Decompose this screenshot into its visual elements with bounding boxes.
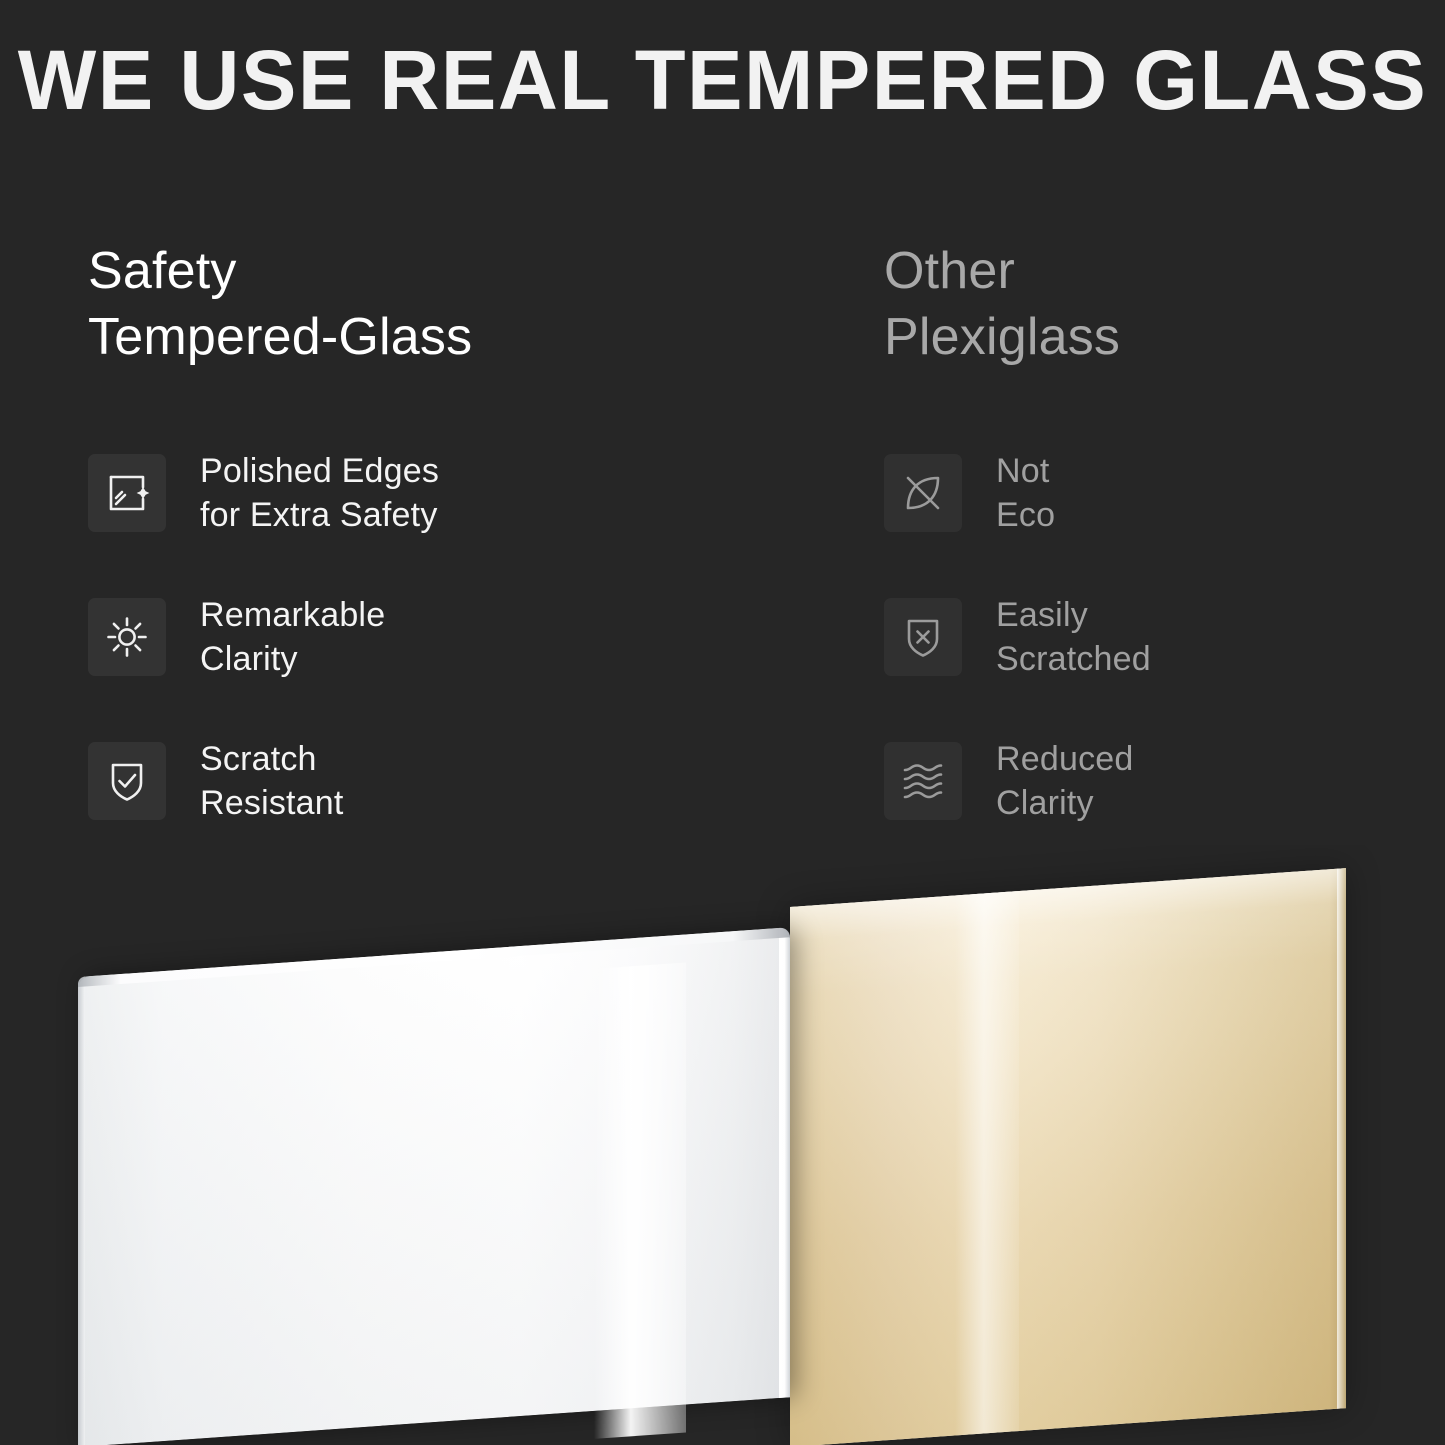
comparison-column-plexiglass: Other Plexiglass Not Eco — [884, 238, 1404, 830]
feature-label-not-eco: Not Eco — [996, 449, 1055, 537]
page-title: WE USE REAL TEMPERED GLASS — [7, 36, 1438, 124]
tempered-glass-panel-left-edge — [78, 977, 85, 1445]
plexiglass-panel-edge — [1337, 868, 1346, 1409]
plexiglass-panel — [790, 868, 1346, 1445]
feature-row-not-eco: Not Eco — [884, 444, 1404, 542]
plexiglass-panel-highlight — [955, 891, 1019, 1435]
shield-x-icon — [884, 598, 962, 676]
leaf-slashed-icon — [884, 454, 962, 532]
feature-list-tempered-glass: Polished Edges for Extra Safety — [88, 444, 828, 830]
feature-row-easily-scratched: Easily Scratched — [884, 588, 1404, 686]
column-heading-plexiglass: Other Plexiglass — [884, 238, 1404, 370]
sun-brightness-icon — [88, 598, 166, 676]
comparison-column-tempered-glass: Safety Tempered-Glass Polished Edges for… — [88, 238, 828, 830]
feature-label-polished-edges: Polished Edges for Extra Safety — [200, 449, 439, 537]
infographic-canvas: WE USE REAL TEMPERED GLASS Safety Temper… — [0, 0, 1445, 1445]
feature-label-easily-scratched: Easily Scratched — [996, 593, 1151, 681]
tempered-glass-panel — [78, 927, 790, 1445]
feature-row-scratch-resistant: Scratch Resistant — [88, 732, 828, 830]
feature-row-reduced-clarity: Reduced Clarity — [884, 732, 1404, 830]
product-photo — [0, 845, 1445, 1445]
feature-label-scratch-resistant: Scratch Resistant — [200, 737, 344, 825]
wavy-lines-icon — [884, 742, 962, 820]
tempered-glass-panel-highlight — [594, 962, 686, 1438]
feature-list-plexiglass: Not Eco Easily Scratched — [884, 444, 1404, 830]
feature-row-remarkable-clarity: Remarkable Clarity — [88, 588, 828, 686]
polished-glass-sparkle-icon — [88, 454, 166, 532]
feature-label-remarkable-clarity: Remarkable Clarity — [200, 593, 385, 681]
column-heading-tempered-glass: Safety Tempered-Glass — [88, 238, 828, 370]
shield-check-icon — [88, 742, 166, 820]
feature-label-reduced-clarity: Reduced Clarity — [996, 737, 1134, 825]
tempered-glass-panel-right-edge — [779, 927, 790, 1398]
feature-row-polished-edges: Polished Edges for Extra Safety — [88, 444, 828, 542]
